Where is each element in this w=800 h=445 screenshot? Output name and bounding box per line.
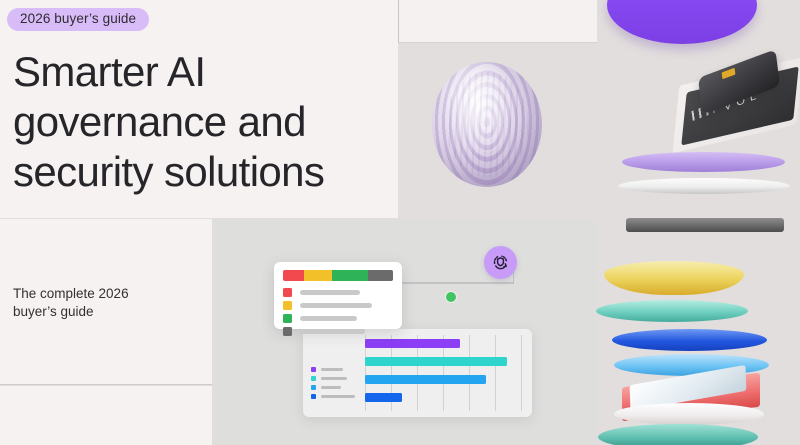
- chart-legend-row: [311, 394, 355, 399]
- chart-legend-swatch-icon: [311, 376, 316, 381]
- chart-legend-row: [311, 367, 355, 372]
- lower-left-panel-secondary: [0, 386, 212, 445]
- legend-swatch-icon: [283, 314, 292, 323]
- chart-legend-swatch-icon: [311, 394, 316, 399]
- card-legend-row: [283, 314, 393, 323]
- lavender-sphere-icon: [432, 62, 542, 187]
- top-middle-panel: [398, 0, 597, 43]
- stacked-bar-segment-0: [283, 270, 304, 281]
- stacked-bar-segment-2: [332, 270, 367, 281]
- legend-swatch-icon: [283, 288, 292, 297]
- stacked-bar-segment-3: [368, 270, 393, 281]
- yellow-disc-icon: [604, 261, 744, 295]
- chart-legend-swatch-icon: [311, 367, 316, 372]
- white-disc-icon: [618, 178, 790, 194]
- legend-label-placeholder: [300, 290, 360, 295]
- hero-subcopy: The complete 2026 buyer’s guide: [13, 285, 193, 321]
- chart-bar: [365, 357, 507, 366]
- chart-bars: [365, 339, 528, 411]
- risk-breakdown-card[interactable]: [274, 262, 402, 329]
- stacked-bar-segment-1: [304, 270, 333, 281]
- hero-banner: 2026 buyer’s guide Smarter AI governance…: [0, 0, 800, 445]
- buyers-guide-badge: 2026 buyer’s guide: [7, 8, 149, 31]
- chart-legend-label-placeholder: [321, 377, 347, 380]
- dark-bar-icon: [626, 218, 784, 232]
- teal-disc-lower-icon: [598, 424, 758, 445]
- legend-label-placeholder: [300, 303, 372, 308]
- chart-bar: [365, 393, 402, 402]
- lavender-disc-icon: [622, 152, 785, 172]
- chart-legend-label-placeholder: [321, 395, 355, 398]
- chart-legend-label-placeholder: [321, 386, 341, 389]
- legend-swatch-icon: [283, 301, 292, 310]
- chart-legend: [311, 367, 355, 399]
- chart-bar: [365, 375, 486, 384]
- card-legend-row: [283, 288, 393, 297]
- chart-legend-row: [311, 376, 355, 381]
- chart-legend-swatch-icon: [311, 385, 316, 390]
- chart-bar: [365, 339, 460, 348]
- connector-status-dot: [446, 292, 456, 302]
- chart-legend-row: [311, 385, 355, 390]
- teal-disc-upper-icon: [596, 300, 748, 322]
- purple-disc-top-icon: [607, 0, 757, 44]
- bar-chart-panel[interactable]: [303, 329, 532, 417]
- legend-swatch-icon: [283, 327, 292, 336]
- card-legend-row: [283, 301, 393, 310]
- blue-disc-dark-icon: [612, 329, 767, 351]
- chart-legend-label-placeholder: [321, 368, 343, 371]
- page-title: Smarter AI governance and security solut…: [13, 47, 388, 197]
- stacked-bar: [283, 270, 393, 281]
- card-legend-row: [283, 327, 393, 336]
- card-legend: [283, 288, 393, 336]
- white-disc-lower-icon: [614, 403, 764, 425]
- legend-label-placeholder: [300, 316, 357, 321]
- legend-label-placeholder: [300, 329, 365, 334]
- shield-refresh-icon[interactable]: [484, 246, 517, 279]
